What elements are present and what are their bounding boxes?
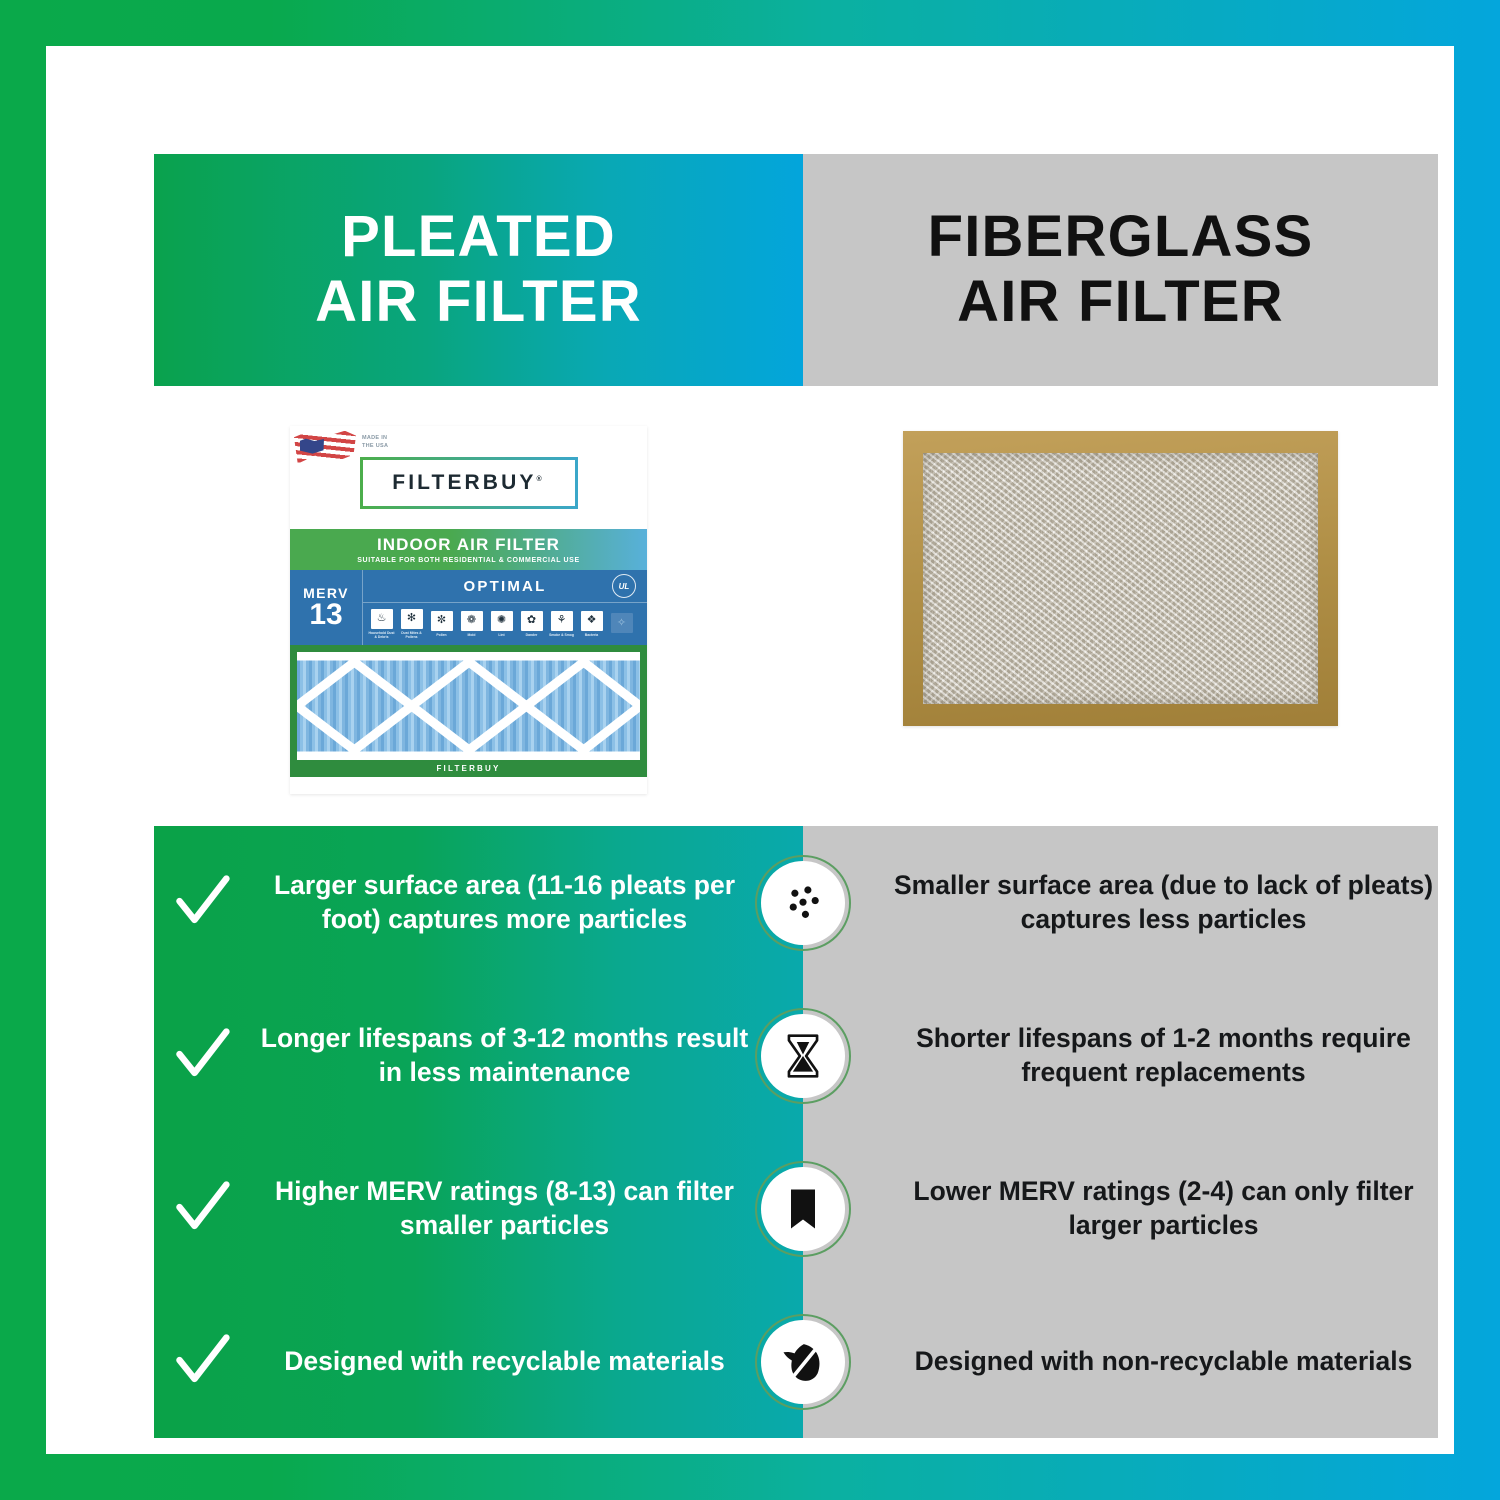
pleated-filter-box-image: MADE IN THE USA FILTERBUY® INDOOR AIR FI… [290,426,647,794]
merv-value: 13 [309,600,342,630]
comparison-badge [755,855,851,951]
made-in-line2: THE USA [362,443,388,451]
header-pleated-title-line2: AIR FILTER [315,270,642,335]
gradient-frame: PLEATED AIR FILTER FIBERGLASS AIR FILTER [0,0,1500,1500]
pleated-benefit-text: Larger surface area (11-16 pleats per fo… [250,869,759,936]
comparison-badge [755,1161,851,1257]
box-blue-band: MERV 13 OPTIMAL UL ♨Househol [290,570,647,645]
header-pleated: PLEATED AIR FILTER [154,154,803,386]
bookmark-icon [761,1167,845,1251]
comparison-row-pleated: Longer lifespans of 3-12 months result i… [154,979,803,1132]
infographic-canvas: PLEATED AIR FILTER FIBERGLASS AIR FILTER [154,154,1438,1438]
pleated-product-cell: MADE IN THE USA FILTERBUY® INDOOR AIR FI… [154,386,803,826]
pet-dander-icon-glyph: ✿ [521,611,543,631]
capture-icon-row: ♨Household Dust & Debris✻Dust Mites & Po… [363,603,647,645]
lint-icon-glyph: ✺ [491,611,513,631]
comparison-badge [755,1008,851,1104]
dust-icon-label: Household Dust & Debris [368,631,395,640]
comparison-row-pleated: Higher MERV ratings (8-13) can filter sm… [154,1132,803,1285]
ul-badge-icon: UL [612,574,636,598]
dust-mite-icon-glyph: ✻ [401,609,423,629]
made-in-line1: MADE IN [362,435,388,443]
fiberglass-mesh [923,453,1318,704]
bacteria-icon-glyph: ❖ [581,611,603,631]
hourglass-icon [761,1014,845,1098]
fiberglass-drawback-text: Smaller surface area (due to lack of ple… [889,869,1438,936]
comparison-badge [755,1314,851,1410]
comparison-row-fiberglass: Lower MERV ratings (2-4) can only filter… [803,1132,1438,1285]
pollen-icon-label: Pollen [436,633,446,637]
header-pleated-title: PLEATED AIR FILTER [315,205,642,335]
dust-mite-icon-label: Dust Mites & Pollens [398,631,425,640]
header-pleated-title-line1: PLEATED [315,205,642,270]
made-in-usa-label: MADE IN THE USA [362,435,388,451]
fiberglass-drawback-text: Designed with non-recyclable materials [889,1345,1438,1378]
pollen-icon-glyph: ✼ [431,611,453,631]
box-band-subtitle: SUITABLE FOR BOTH RESIDENTIAL & COMMERCI… [357,557,579,564]
check-icon [154,1332,250,1392]
comparison-panel: Larger surface area (11-16 pleats per fo… [154,826,1438,1438]
comparison-row-fiberglass: Shorter lifespans of 1-2 months require … [803,979,1438,1132]
header-fiberglass-title-line1: FIBERGLASS [928,205,1314,270]
brand-logo-frame: FILTERBUY® [360,457,578,509]
header-band: PLEATED AIR FILTER FIBERGLASS AIR FILTER [154,154,1438,386]
brand-registered-mark: ® [536,476,544,483]
lint-icon: ✺Lint [488,611,515,637]
header-fiberglass: FIBERGLASS AIR FILTER [803,154,1438,386]
mold-icon: ❁Mold [458,611,485,637]
brand-logo-text: FILTERBUY [392,471,536,494]
dust-icon: ♨Household Dust & Debris [368,609,395,640]
virus-icon: ✧ [608,613,635,635]
comparison-row-fiberglass: Smaller surface area (due to lack of ple… [803,826,1438,979]
mold-icon-glyph: ❁ [461,611,483,631]
usa-flag-icon [294,430,356,470]
smoke-icon-label: Smoke & Smog [549,633,574,637]
header-fiberglass-title: FIBERGLASS AIR FILTER [928,205,1314,335]
bacteria-icon: ❖Bacteria [578,611,605,637]
fiberglass-drawback-text: Shorter lifespans of 1-2 months require … [889,1022,1438,1089]
pleated-benefit-text: Designed with recyclable materials [250,1345,759,1378]
box-blue-main: OPTIMAL UL ♨Household Dust & Debris✻Dust… [363,570,647,645]
pet-dander-icon: ✿Dander [518,611,545,637]
comparison-row-pleated: Larger surface area (11-16 pleats per fo… [154,826,803,979]
filter-wire-grid [297,652,640,760]
comparison-row-pleated: Designed with recyclable materials [154,1285,803,1438]
box-footer-brand: FILTERBUY [290,760,647,777]
tier-row: OPTIMAL UL [363,570,647,603]
ul-certification-badge: UL [607,573,641,599]
box-band-title: INDOOR AIR FILTER [377,535,560,555]
check-icon [154,1179,250,1239]
pleated-benefit-text: Longer lifespans of 3-12 months result i… [250,1022,759,1089]
check-icon [154,873,250,933]
pet-dander-icon-label: Dander [526,633,538,637]
fiberglass-drawback-text: Lower MERV ratings (2-4) can only filter… [889,1175,1438,1242]
pleated-benefit-text: Higher MERV ratings (8-13) can filter sm… [250,1175,759,1242]
header-fiberglass-title-line2: AIR FILTER [928,270,1314,335]
smoke-icon-glyph: ⚘ [551,611,573,631]
dust-icon-glyph: ♨ [371,609,393,629]
white-mat: PLEATED AIR FILTER FIBERGLASS AIR FILTER [46,46,1454,1454]
dust-mite-icon: ✻Dust Mites & Pollens [398,609,425,640]
check-icon [154,1026,250,1086]
virus-icon-glyph: ✧ [611,613,633,633]
comparison-row-fiberglass: Designed with non-recyclable materials [803,1285,1438,1438]
flag-canton [300,438,324,455]
fiberglass-product-cell [803,386,1438,826]
pollen-icon: ✼Pollen [428,611,455,637]
tier-label: OPTIMAL [464,578,547,595]
box-pleat-area [290,645,647,760]
brand-logo: FILTERBUY® [392,471,544,495]
box-green-band: INDOOR AIR FILTER SUITABLE FOR BOTH RESI… [290,529,647,570]
pleat-media [297,652,640,760]
mold-icon-label: Mold [468,633,476,637]
lint-icon-label: Lint [498,633,504,637]
fiberglass-filter-image [903,431,1338,726]
merv-block: MERV 13 [290,570,363,645]
product-image-strip: MADE IN THE USA FILTERBUY® INDOOR AIR FI… [154,386,1438,826]
box-top-area: MADE IN THE USA FILTERBUY® [290,426,647,529]
particles-icon [761,861,845,945]
bacteria-icon-label: Bacteria [585,633,598,637]
smoke-icon: ⚘Smoke & Smog [548,611,575,637]
leaf-icon [761,1320,845,1404]
